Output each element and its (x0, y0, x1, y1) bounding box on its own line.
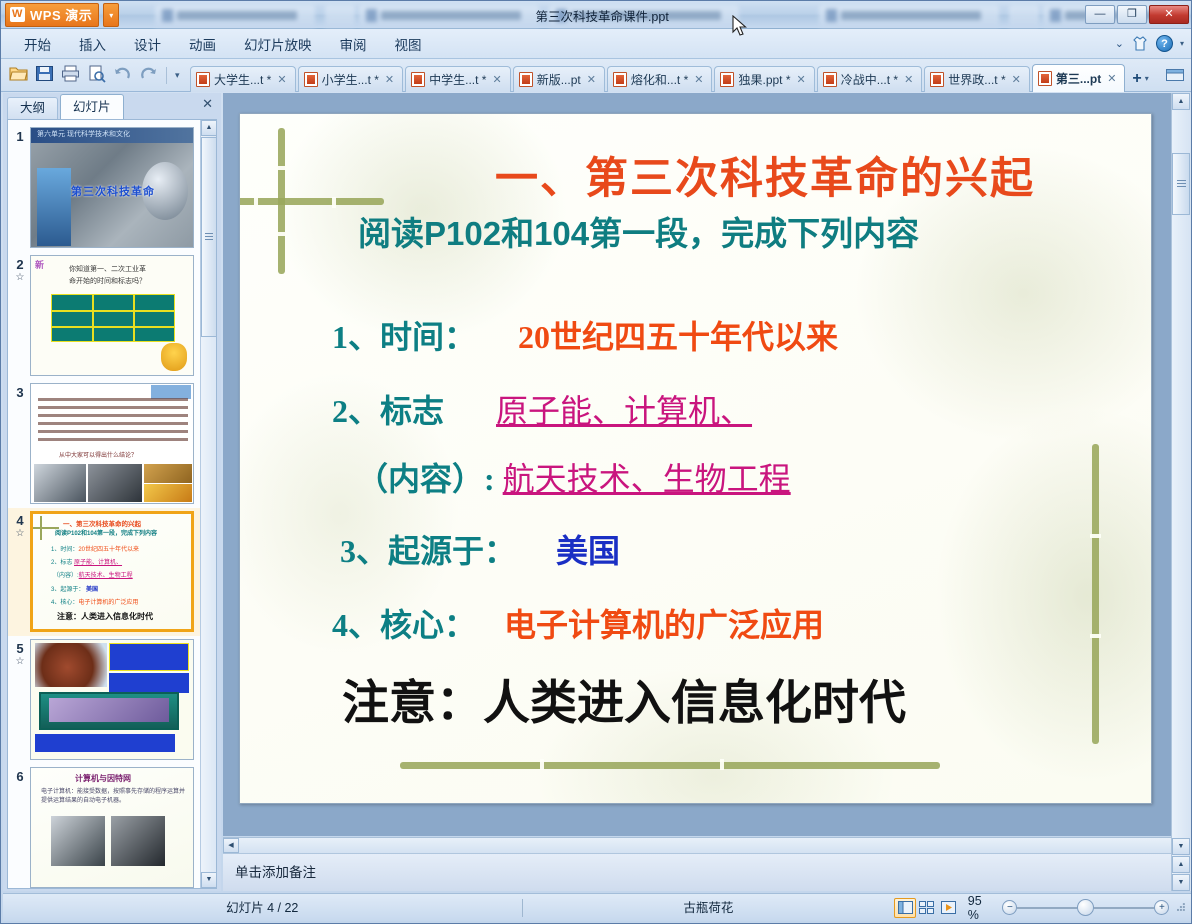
doc-tab-7[interactable]: 世界政...t * ✕ (924, 66, 1030, 92)
ppt-file-icon (613, 72, 627, 87)
skin-shirt-icon[interactable] (1131, 35, 1149, 52)
slide-counter: 幻灯片 4 / 22 (3, 898, 522, 918)
thumbnail-preview[interactable]: 从中大家可以得出什么结论？ (30, 383, 194, 504)
slide-row-5[interactable]: 4、核心： 电子计算机的广泛应用 (332, 600, 824, 646)
row-label: （内容）: (356, 461, 495, 497)
doc-tab-label: 冷战中...t * (841, 71, 898, 88)
doc-tab-close-icon[interactable]: ✕ (902, 73, 915, 86)
menu-item-view[interactable]: 视图 (382, 31, 435, 57)
ppt-file-icon (1038, 71, 1052, 86)
doc-tab-1[interactable]: 小学生...t * ✕ (298, 66, 404, 92)
window-title: 第三次科技革命课件.ppt (119, 6, 1085, 25)
wps-presentation-window: W WPS 演示 ▾ 第三次科技革命课件.ppt — ❐ ✕ 开始 插入 设计 … (0, 0, 1192, 924)
ppt-file-icon (519, 72, 533, 87)
row-value: 美国 (556, 533, 620, 569)
doc-tab-close-icon[interactable]: ✕ (1105, 72, 1118, 85)
slides-outline-pane: 大纲 幻灯片 ✕ 1 第六单元 现代科学技术和文化 第三次科技革命 (3, 93, 221, 891)
doc-tab-label: 中学生...t * (429, 71, 486, 88)
thumbnail-preview[interactable]: 第六单元 现代科学技术和文化 第三次科技革命 (30, 127, 194, 248)
animation-star-icon: ☆ (10, 272, 30, 283)
close-pane-icon[interactable]: ✕ (202, 96, 213, 112)
ppt-file-icon (411, 72, 425, 87)
window-list-icon[interactable] (1165, 67, 1185, 83)
help-caret-icon[interactable]: ▾ (1180, 39, 1184, 48)
thumb-title-text: 计算机与因特网 (75, 773, 131, 784)
doc-tab-close-icon[interactable]: ✕ (383, 73, 396, 86)
pane-tab-strip: 大纲 幻灯片 ✕ (3, 93, 221, 119)
previous-slide-button[interactable]: ▼ (1172, 838, 1190, 855)
slideshow-button[interactable] (937, 898, 959, 918)
slide-row-4[interactable]: 3、起源于： 美国 (340, 526, 620, 572)
new-tab-button[interactable]: + (1132, 71, 1141, 87)
print-icon[interactable] (60, 64, 83, 87)
minimize-button[interactable]: — (1085, 5, 1115, 24)
doc-tab-label: 熔化和...t * (631, 71, 688, 88)
scrollbar-thumb[interactable] (201, 137, 217, 337)
doc-tab-label: 大学生...t * (214, 71, 271, 88)
ppt-file-icon (304, 72, 318, 87)
thumbnail-preview[interactable]: 新 你知道第一、二次工业革命开始的时间和标志吗？ (30, 255, 194, 376)
doc-tab-5[interactable]: 独果.ppt * ✕ (714, 66, 814, 92)
doc-tab-close-icon[interactable]: ✕ (275, 73, 288, 86)
thumb-title-text: 一、第三次科技革命的兴起 (63, 518, 141, 528)
scroll-left-button[interactable]: ◀ (223, 838, 239, 853)
doc-tab-close-icon[interactable]: ✕ (490, 73, 503, 86)
thumbnail-scroll-content: 1 第六单元 现代科学技术和文化 第三次科技革命 2 ☆ (8, 120, 202, 888)
ppt-file-icon (930, 72, 944, 87)
thumbnail-item-5[interactable]: 5 ☆ (8, 636, 202, 764)
slide-nav-divider[interactable]: ▲ (1172, 856, 1190, 873)
wps-app-name: WPS 演示 (30, 5, 92, 24)
menu-item-insert[interactable]: 插入 (66, 31, 119, 57)
slide-text-content: 一、第三次科技革命的兴起 阅读P102和104第一段，完成下列内容 1、时间： … (240, 114, 1151, 803)
normal-view-button[interactable] (894, 898, 916, 918)
row-label: 4、核心： (332, 607, 476, 643)
doc-tab-4[interactable]: 熔化和...t * ✕ (607, 66, 713, 92)
row-label: 3、起源于： (340, 533, 516, 569)
menu-item-review[interactable]: 审阅 (327, 31, 380, 57)
thumb-question-text: 从中大家可以得出什么结论？ (59, 450, 137, 459)
thumbnail-number: 4 ☆ (10, 511, 30, 539)
menu-item-slideshow[interactable]: 幻灯片放映 (231, 31, 325, 57)
thumb-header-text: 第六单元 现代科学技术和文化 (37, 129, 130, 139)
menu-item-home[interactable]: 开始 (11, 31, 64, 57)
new-tab-group: + ▾ (1127, 66, 1151, 92)
quick-access-and-tabs-bar: ▾ 大学生...t * ✕ 小学生...t * ✕ 中学生...t * ✕ 新版… (1, 59, 1192, 92)
doc-tab-close-icon[interactable]: ✕ (585, 73, 598, 86)
menu-item-animation[interactable]: 动画 (176, 31, 229, 57)
background-document-tabs: 第三次科技革命课件.ppt (119, 1, 1085, 29)
doc-tab-3[interactable]: 新版...pt ✕ (513, 66, 605, 92)
row-value: 航天技术、生物工程 (503, 461, 791, 497)
thumbnail-item-4[interactable]: 4 ☆ 一、第三次科技革命的兴起 阅读P102和104第一段，完成下列内容 1、… (8, 508, 202, 636)
doc-tab-label: 第三...pt (1056, 70, 1101, 87)
thumbnail-number: 1 (10, 127, 30, 144)
animation-star-icon: ☆ (10, 528, 30, 539)
theme-name: 古瓶荷花 (522, 898, 894, 918)
doc-tab-close-icon[interactable]: ✕ (795, 73, 808, 86)
zoom-track-left[interactable] (1017, 907, 1077, 909)
scroll-down-button[interactable]: ▼ (201, 872, 217, 888)
thumbnail-preview[interactable]: 计算机与因特网 电子计算机：能接受数据，按照事先存储的程序运算并提供运算结果的自… (30, 767, 194, 888)
scrollbar-thumb[interactable] (1172, 153, 1190, 215)
thumbnail-number: 3 (10, 383, 30, 400)
scroll-up-button[interactable]: ▲ (201, 120, 217, 136)
doc-tab-label: 新版...pt (537, 71, 581, 88)
title-bar: W WPS 演示 ▾ 第三次科技革命课件.ppt — ❐ ✕ (1, 1, 1192, 29)
zoom-track-right[interactable] (1094, 907, 1154, 909)
help-icon[interactable]: ? (1156, 35, 1173, 52)
thumbnail-preview[interactable] (30, 639, 194, 760)
scroll-up-button[interactable]: ▲ (1172, 93, 1190, 110)
slide-sorter-button[interactable] (916, 898, 938, 918)
animation-star-icon: ☆ (10, 656, 30, 667)
app-menu-caret-icon[interactable]: ▾ (103, 3, 119, 27)
pane-tab-slides[interactable]: 幻灯片 (60, 94, 124, 119)
slide-edit-area: 一、第三次科技革命的兴起 阅读P102和104第一段，完成下列内容 1、时间： … (223, 93, 1171, 836)
row-value: 20世纪四五十年代以来 (518, 319, 838, 355)
thumbnail-item-3[interactable]: 3 从中大家可以得出什么结论？ (8, 380, 202, 508)
notes-pane[interactable]: 单击添加备注 (223, 853, 1171, 891)
slide-row-3[interactable]: （内容）: 航天技术、生物工程 (356, 454, 791, 500)
thumbnail-number: 2 ☆ (10, 255, 30, 283)
row-value: 原子能、计算机、 (496, 393, 752, 429)
zoom-slider-handle[interactable] (1077, 899, 1094, 916)
zoom-slider[interactable]: − + (1002, 899, 1169, 916)
thumbnail-number: 5 ☆ (10, 639, 30, 667)
thumbnail-number: 6 (10, 767, 30, 784)
zoom-out-button[interactable]: − (1002, 900, 1017, 915)
row-value: 电子计算机的广泛应用 (504, 607, 824, 643)
wps-logo-icon: W (10, 7, 25, 22)
redo-icon[interactable] (138, 64, 161, 87)
save-icon[interactable] (34, 64, 57, 87)
menu-item-design[interactable]: 设计 (121, 31, 174, 57)
next-slide-button[interactable]: ▼ (1172, 874, 1190, 891)
doc-tab-6[interactable]: 冷战中...t * ✕ (817, 66, 923, 92)
ppt-file-icon (196, 72, 210, 87)
row-label: 1、时间： (332, 319, 476, 355)
toolbar-separator (166, 67, 167, 84)
open-file-icon[interactable] (8, 64, 31, 87)
customize-qat-caret-icon[interactable]: ▾ (175, 64, 190, 87)
doc-tab-label: 小学生...t * (322, 71, 379, 88)
slide-horizontal-scrollbar[interactable]: ◀ (223, 837, 1171, 853)
zoom-in-button[interactable]: + (1154, 900, 1169, 915)
ppt-file-icon (720, 72, 734, 87)
thumbnail-item-2[interactable]: 2 ☆ 新 你知道第一、二次工业革命开始的时间和标志吗？ (8, 252, 202, 380)
zoom-level-label: 95 % (968, 894, 996, 922)
wps-app-button[interactable]: W WPS 演示 (5, 3, 99, 27)
slide-row-2[interactable]: 2、标志 原子能、计算机、 (332, 386, 752, 432)
slide-subtitle[interactable]: 阅读P102和104第一段，完成下列内容 (358, 207, 919, 255)
window-controls: — ❐ ✕ (1085, 5, 1189, 24)
doc-tab-0[interactable]: 大学生...t * ✕ (190, 66, 296, 92)
thumbnail-scrollbar[interactable]: ▲ ▼ (200, 120, 216, 888)
close-button[interactable]: ✕ (1149, 5, 1189, 24)
ppt-file-icon (823, 72, 837, 87)
doc-tab-close-icon[interactable]: ✕ (1010, 73, 1023, 86)
doc-tab-2[interactable]: 中学生...t * ✕ (405, 66, 511, 92)
thumbnail-item-1[interactable]: 1 第六单元 现代科学技术和文化 第三次科技革命 (8, 124, 202, 252)
slide-canvas[interactable]: 一、第三次科技革命的兴起 阅读P102和104第一段，完成下列内容 1、时间： … (239, 113, 1152, 804)
slide-conclusion[interactable]: 注意：人类进入信息化时代 (342, 664, 906, 733)
doc-tab-label: 世界政...t * (948, 71, 1005, 88)
thumbnail-preview-active[interactable]: 一、第三次科技革命的兴起 阅读P102和104第一段，完成下列内容 1、时间：2… (30, 511, 194, 632)
slide-vertical-scrollbar[interactable]: ▲ ▼ ▲ ▼ (1171, 93, 1191, 891)
undo-icon[interactable] (112, 64, 135, 87)
pane-tab-outline[interactable]: 大纲 (7, 97, 58, 119)
new-tab-caret-icon[interactable]: ▾ (1145, 74, 1149, 83)
chevron-down-icon[interactable]: ⌄ (1115, 37, 1124, 50)
slide-title[interactable]: 一、第三次科技革命的兴起 (495, 144, 1035, 206)
resize-grip-icon[interactable] (1177, 903, 1186, 912)
document-tab-strip: 大学生...t * ✕ 小学生...t * ✕ 中学生...t * ✕ 新版..… (190, 59, 1161, 92)
status-bar: 幻灯片 4 / 22 古瓶荷花 95 % − + (3, 893, 1191, 921)
row-label: 2、标志 (332, 393, 444, 429)
slide-row-1[interactable]: 1、时间： 20世纪四五十年代以来 (332, 312, 838, 358)
doc-tab-close-icon[interactable]: ✕ (692, 73, 705, 86)
maximize-button[interactable]: ❐ (1117, 5, 1147, 24)
thumbnail-list: 1 第六单元 现代科学技术和文化 第三次科技革命 2 ☆ (7, 119, 217, 889)
ribbon-menu-bar: 开始 插入 设计 动画 幻灯片放映 审阅 视图 ⌄ ? ▾ (1, 29, 1192, 59)
tabbar-right-group (1165, 67, 1185, 83)
thumbnail-item-6[interactable]: 6 计算机与因特网 电子计算机：能接受数据，按照事先存储的程序运算并提供运算结果… (8, 764, 202, 889)
doc-tab-active[interactable]: 第三...pt ✕ (1032, 64, 1126, 92)
mouse-cursor-icon (732, 15, 748, 37)
print-preview-icon[interactable] (86, 64, 109, 87)
doc-tab-label: 独果.ppt * (738, 71, 790, 88)
thumb-title-text: 第三次科技革命 (71, 183, 155, 199)
thumb-question-text: 你知道第一、二次工业革命开始的时间和标志吗？ (69, 264, 146, 288)
